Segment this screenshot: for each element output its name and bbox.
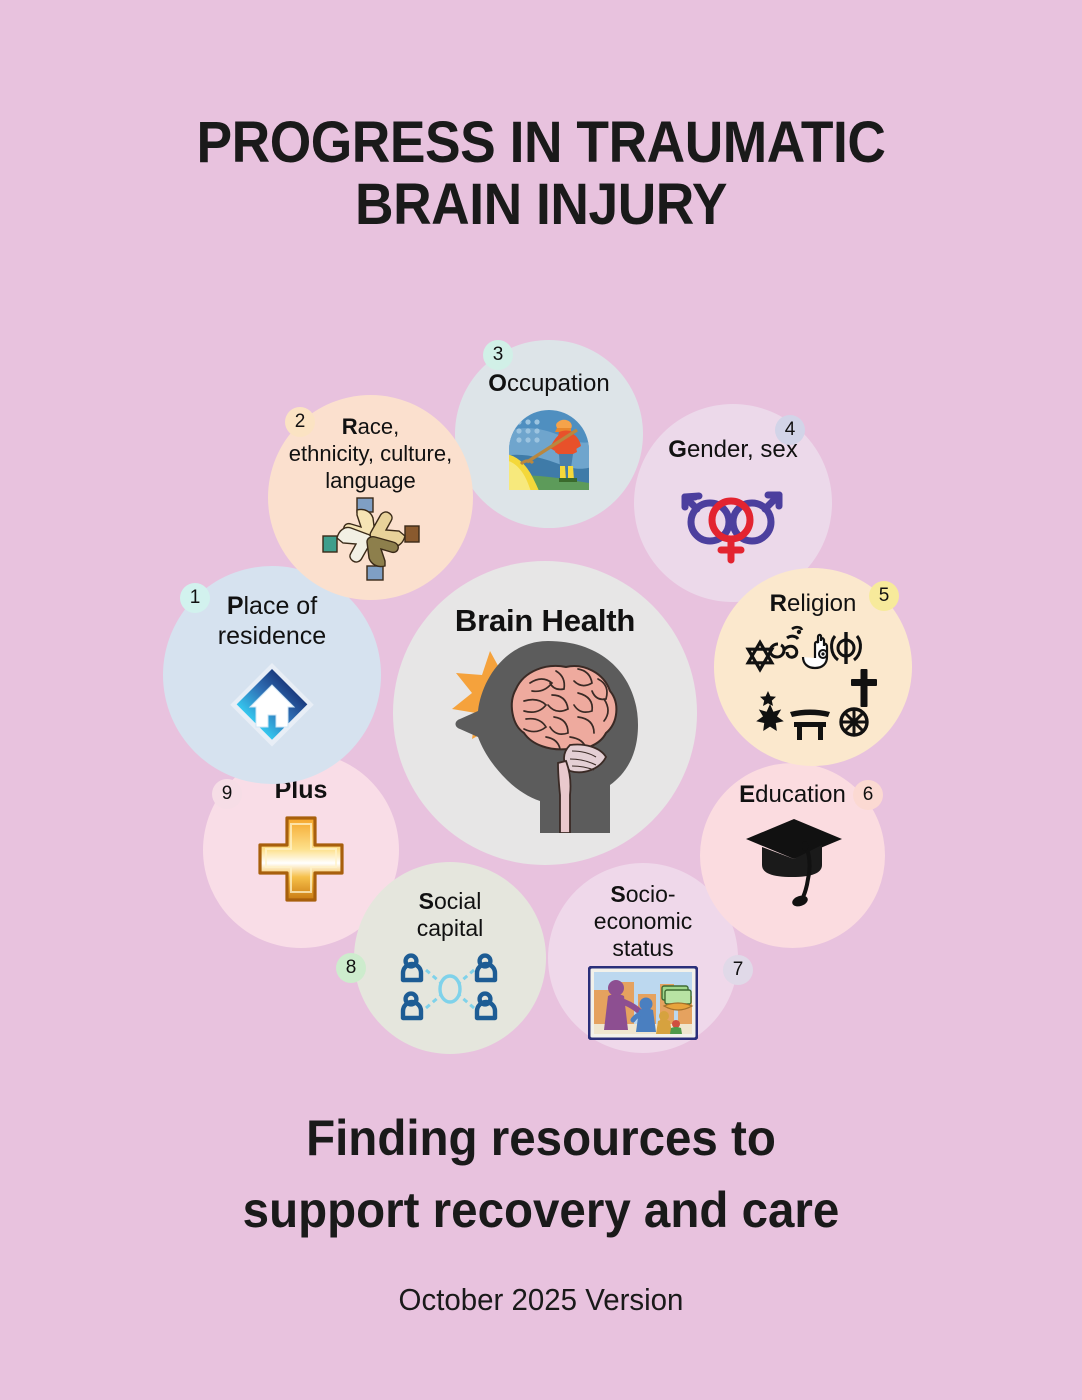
family-market-icon	[588, 966, 698, 1040]
badge-4: 4	[775, 415, 805, 445]
node-social-capital[interactable]: Social capital	[354, 862, 546, 1054]
version-text: October 2025 Version	[27, 1282, 1055, 1318]
badge-6: 6	[853, 780, 883, 810]
badge-8: 8	[336, 953, 366, 983]
cover-page: PROGRESS IN TRAUMATIC BRAIN INJURY Occup…	[0, 0, 1082, 1400]
gender-symbols-icon	[669, 470, 797, 566]
head-with-brain-icon	[420, 633, 670, 833]
gold-plus-icon	[254, 812, 348, 904]
subtitle-line-2: support recovery and care	[27, 1174, 1055, 1246]
farm-worker-icon	[503, 404, 595, 496]
badge-7: 7	[723, 955, 753, 985]
node-religion-label: Religion	[770, 590, 857, 618]
node-social-capital-label: Social capital	[417, 888, 483, 942]
node-occupation[interactable]: Occupation	[455, 340, 643, 528]
religious-symbols-icon	[738, 622, 888, 740]
people-network-icon	[391, 950, 509, 1026]
badge-3: 3	[483, 340, 513, 370]
badge-2: 2	[285, 407, 315, 437]
node-brain-health[interactable]: Brain Health	[393, 561, 697, 865]
badge-1: 1	[180, 583, 210, 613]
page-subtitle: Finding resources to support recovery an…	[27, 1102, 1055, 1246]
badge-9: 9	[212, 779, 242, 809]
node-residence-label: Place of residence	[218, 591, 326, 651]
node-ses-label: Socio- economic status	[594, 881, 692, 962]
house-diamond-icon	[226, 659, 318, 751]
graduation-cap-icon	[738, 813, 848, 909]
subtitle-line-1: Finding resources to	[27, 1102, 1055, 1174]
node-education-label: Education	[739, 781, 846, 809]
joined-hands-icon	[321, 496, 421, 582]
node-occupation-label: Occupation	[488, 370, 609, 398]
badge-5: 5	[869, 581, 899, 611]
